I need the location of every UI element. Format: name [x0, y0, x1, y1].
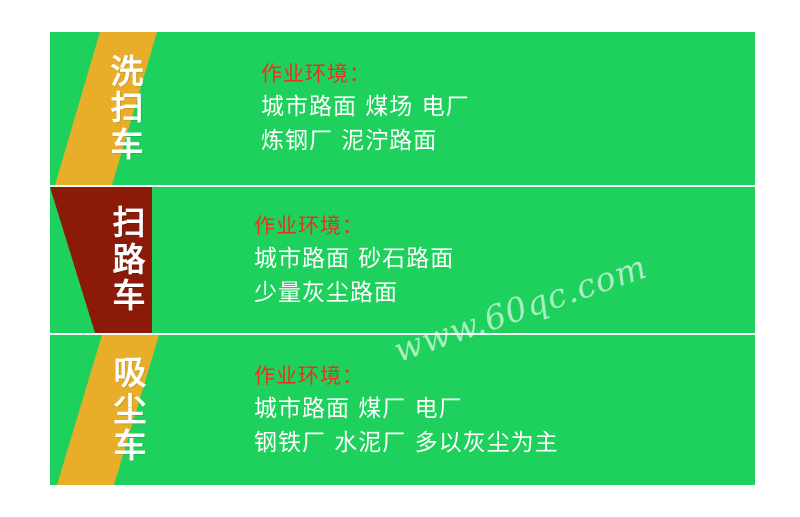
badge-washing-sweeper: 洗 扫 车 — [55, 32, 157, 185]
badge-char: 车 — [114, 429, 147, 464]
badge-char: 扫 — [113, 206, 146, 241]
operating-environment-heading: 作业环境： — [261, 64, 470, 85]
category-row-washing-sweeper: 洗 扫 车 作业环境： 城市路面 煤场 电厂 炼钢厂 泥泞路面 — [50, 32, 755, 185]
badge-char: 洗 — [111, 55, 144, 90]
badge-road-sweeper: 扫 路 车 — [50, 187, 152, 333]
category-row-vacuum-sweeper: 吸 尘 车 作业环境： 城市路面 煤厂 电厂 钢铁厂 水泥厂 多以灰尘为主 — [50, 335, 755, 485]
green-panel: 洗 扫 车 作业环境： 城市路面 煤场 电厂 炼钢厂 泥泞路面 扫 路 — [50, 32, 755, 485]
badge-label-stack: 吸 尘 车 — [114, 356, 147, 464]
row-divider — [50, 185, 755, 187]
operating-environment-heading: 作业环境： — [254, 366, 559, 387]
badge-char: 路 — [113, 243, 146, 278]
environment-line: 城市路面 煤厂 电厂 — [254, 398, 559, 421]
badge-label-stack: 洗 扫 车 — [111, 55, 144, 163]
badge-char: 车 — [111, 128, 144, 163]
badge-char: 吸 — [114, 356, 147, 391]
environment-line: 少量灰尘路面 — [254, 282, 454, 305]
badge-char: 车 — [113, 279, 146, 314]
environment-line: 炼钢厂 泥泞路面 — [261, 130, 470, 153]
category-row-road-sweeper: 扫 路 车 作业环境： 城市路面 砂石路面 少量灰尘路面 — [50, 187, 755, 333]
badge-label-stack: 扫 路 车 — [113, 206, 146, 314]
badge-vacuum-sweeper: 吸 尘 车 — [57, 335, 159, 485]
badge-char: 扫 — [111, 91, 144, 126]
text-block-washing-sweeper: 作业环境： 城市路面 煤场 电厂 炼钢厂 泥泞路面 — [257, 32, 470, 185]
text-block-vacuum-sweeper: 作业环境： 城市路面 煤厂 电厂 钢铁厂 水泥厂 多以灰尘为主 — [250, 335, 559, 485]
row-divider — [50, 333, 755, 335]
environment-line: 钢铁厂 水泥厂 多以灰尘为主 — [254, 432, 559, 455]
environment-line: 城市路面 煤场 电厂 — [261, 96, 470, 119]
infographic-root: 洗 扫 车 作业环境： 城市路面 煤场 电厂 炼钢厂 泥泞路面 扫 路 — [0, 0, 800, 517]
badge-char: 尘 — [114, 393, 147, 428]
text-block-road-sweeper: 作业环境： 城市路面 砂石路面 少量灰尘路面 — [250, 187, 454, 333]
environment-line: 城市路面 砂石路面 — [254, 248, 454, 271]
operating-environment-heading: 作业环境： — [254, 216, 454, 237]
